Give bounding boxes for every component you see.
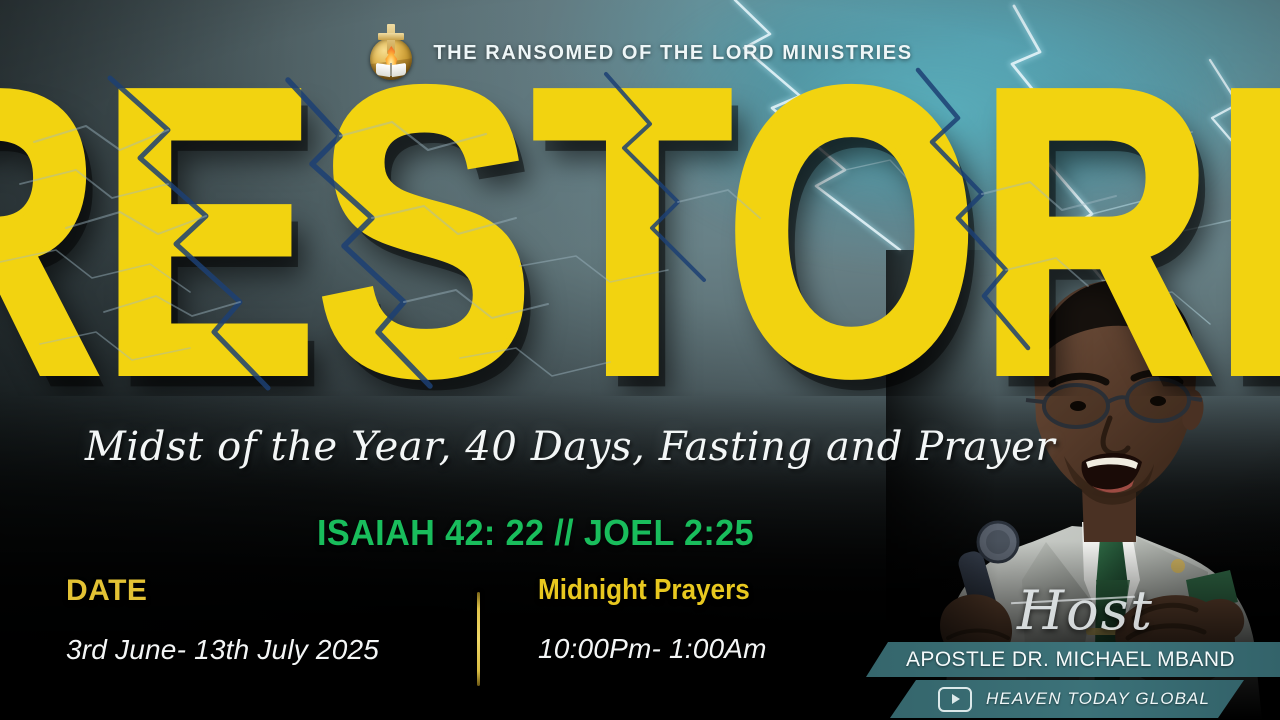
speaker-name: APOSTLE DR. MICHAEL MBAND	[906, 648, 1235, 672]
book-spine	[390, 63, 392, 76]
event-title-wrap: RESTORE	[0, 66, 1280, 396]
scripture-reference: ISAIAH 42: 22 // JOEL 2:25	[32, 512, 1248, 554]
event-details: DATE 3rd June- 13th July 2025 Midnight P…	[0, 574, 900, 704]
youtube-play-icon	[938, 687, 972, 712]
vertical-divider	[477, 592, 480, 686]
cross-flame-book-logo-icon	[367, 24, 415, 82]
speaker-name-banner: APOSTLE DR. MICHAEL MBAND	[866, 642, 1280, 677]
open-book-icon	[376, 64, 406, 76]
flyer-canvas: RESTORE	[0, 0, 1280, 720]
ministry-name: THE RANSOMED OF THE LORD MINISTRIES	[433, 42, 912, 65]
time-value: 10:00Pm- 1:00Am	[538, 633, 773, 665]
time-block: Midnight Prayers 10:00Pm- 1:00Am	[538, 574, 773, 665]
event-title: RESTORE	[0, 66, 1280, 396]
book-page-left	[376, 63, 390, 77]
channel-name: HEAVEN TODAY GLOBAL	[986, 689, 1210, 709]
channel-banner[interactable]: HEAVEN TODAY GLOBAL	[890, 680, 1244, 718]
book-page-right	[392, 63, 406, 77]
event-tagline: Midst of the Year, 40 Days, Fasting and …	[0, 424, 1280, 470]
date-label: DATE	[66, 574, 379, 608]
time-label: Midnight Prayers	[538, 574, 750, 607]
host-script-label: Host	[1017, 579, 1154, 642]
ministry-header: THE RANSOMED OF THE LORD MINISTRIES	[0, 24, 1280, 82]
date-block: DATE 3rd June- 13th July 2025	[66, 574, 379, 666]
date-value: 3rd June- 13th July 2025	[66, 634, 379, 666]
